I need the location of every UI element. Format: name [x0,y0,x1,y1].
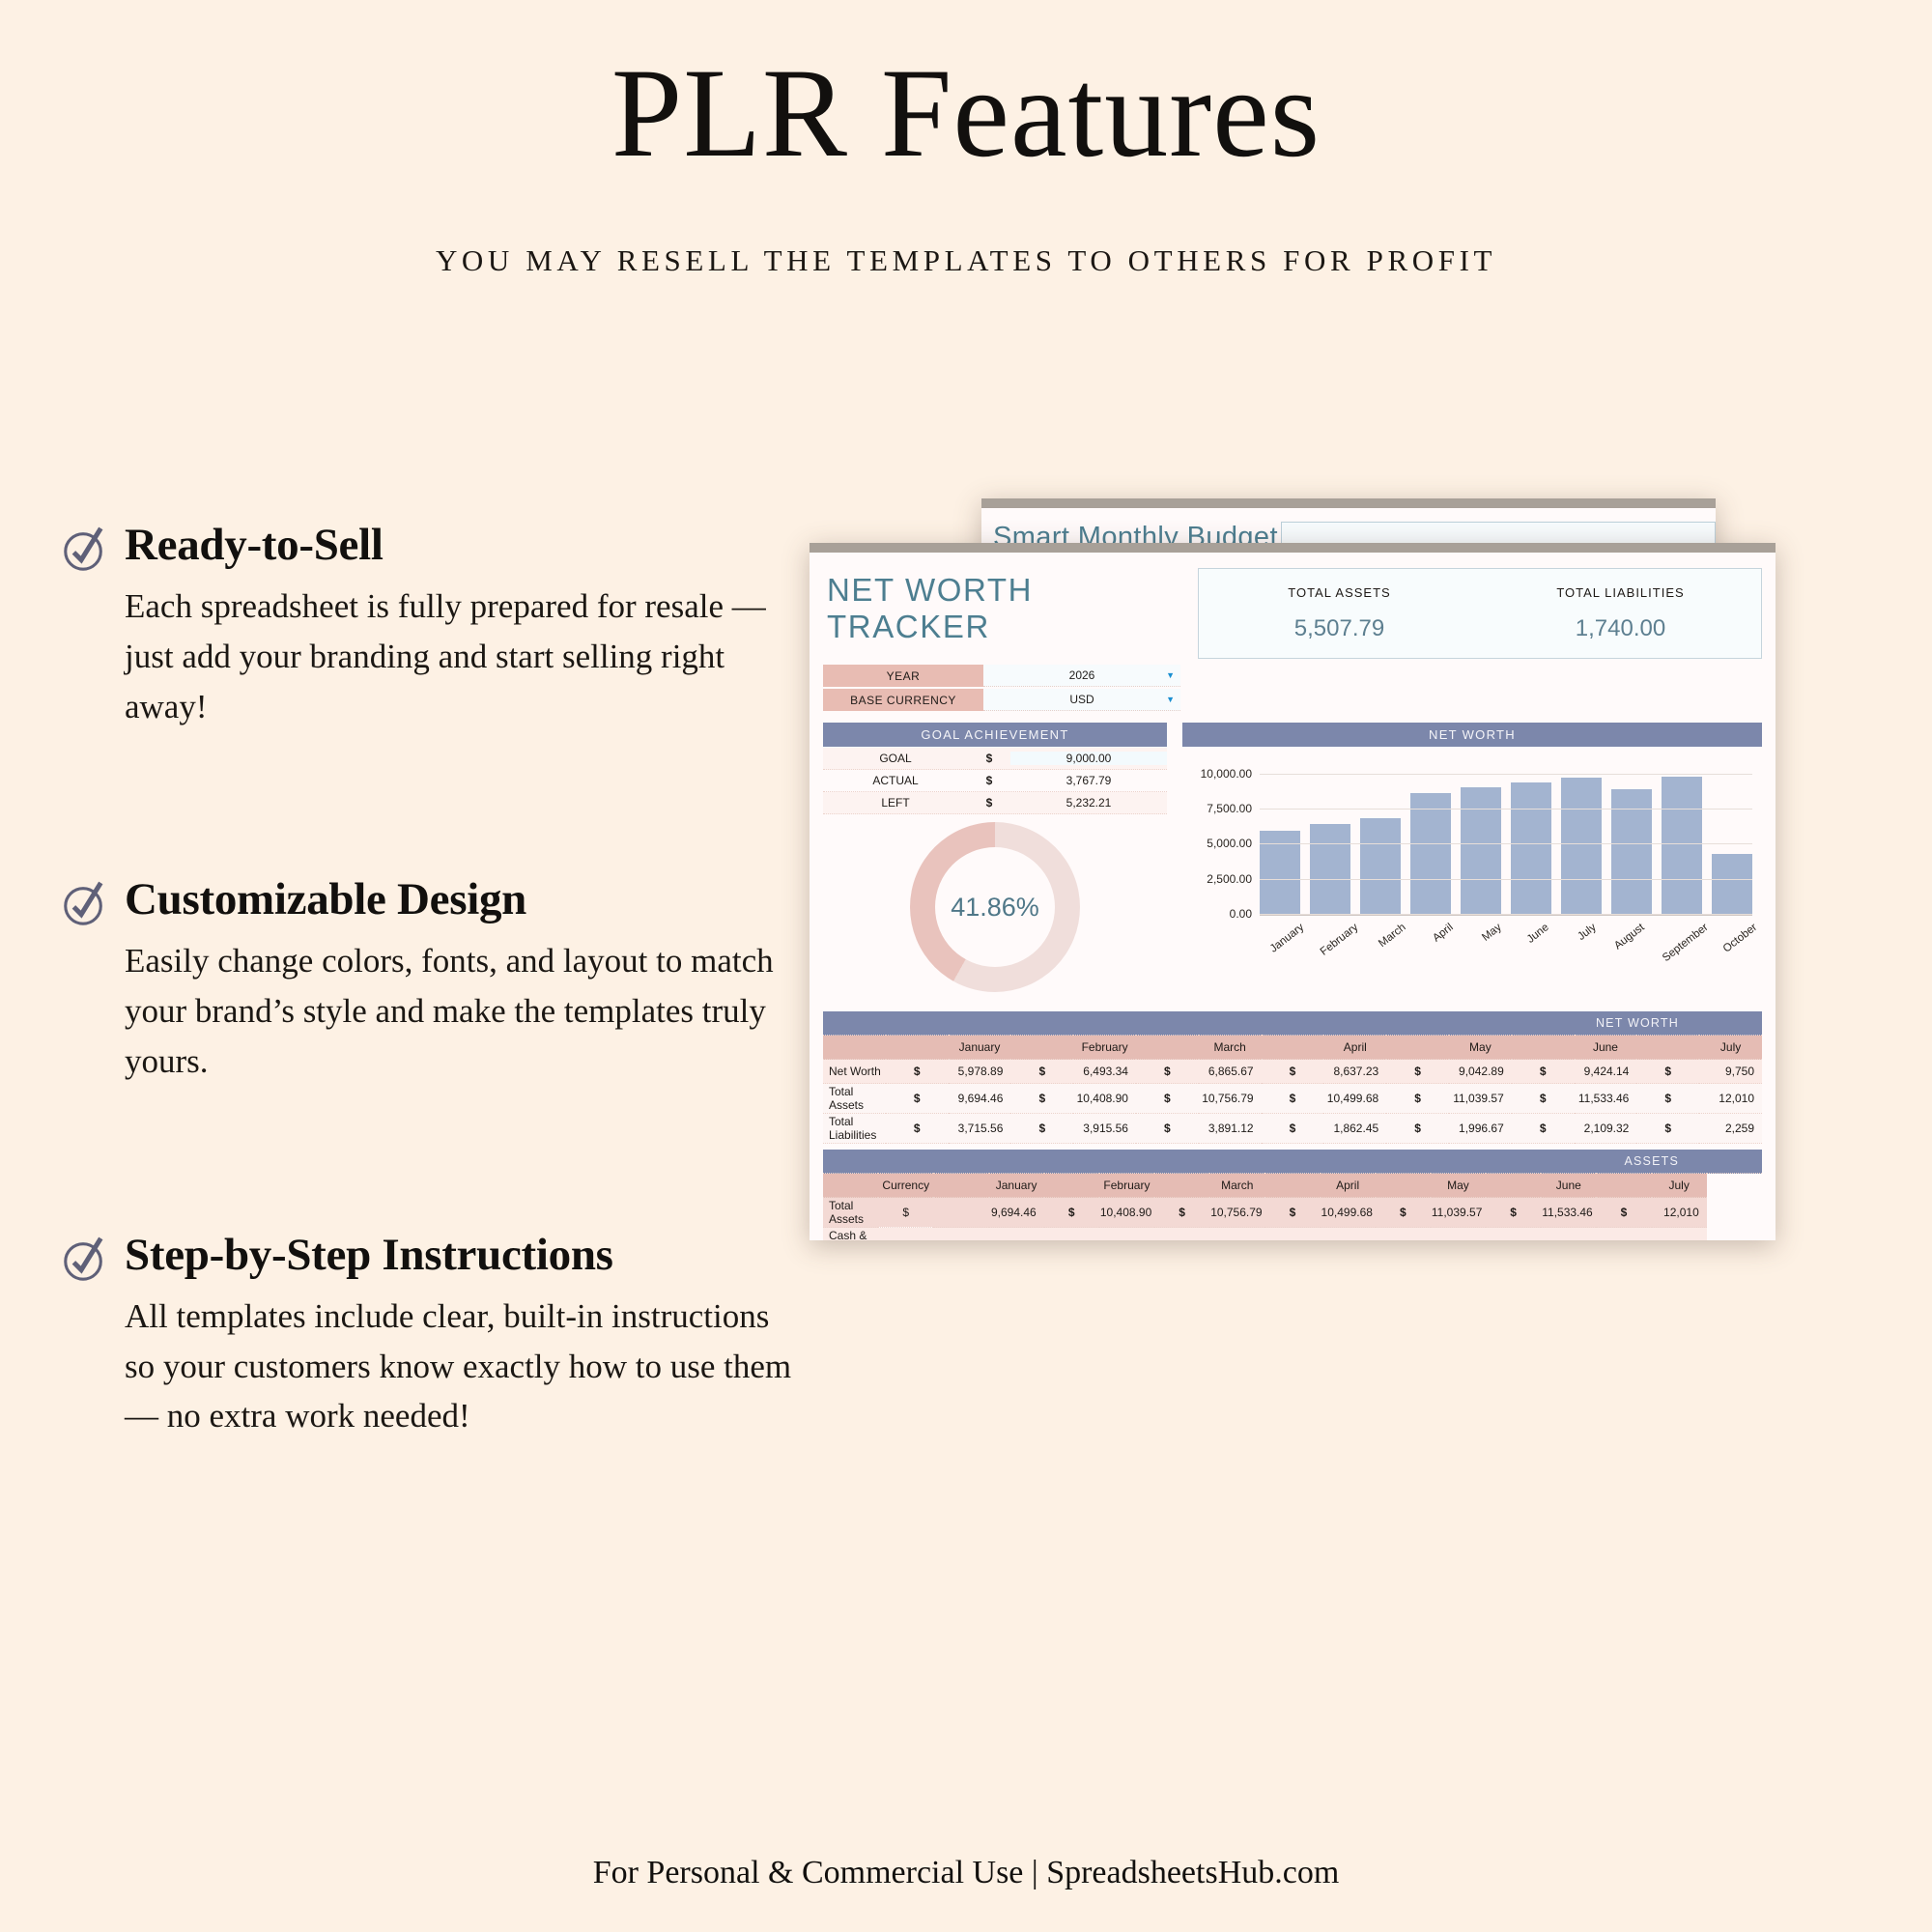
table-cell: 1,862.45 [1323,1114,1386,1144]
currency-symbol-column [1512,1036,1575,1060]
table-row: Cash & Bank Accounts$1,600.00$1,740.00$1… [823,1228,1762,1241]
currency-symbol-column [1596,1174,1651,1198]
currency-symbol-column [1154,1174,1209,1198]
table-cell: 1,910.00 [1431,1228,1486,1241]
currency-symbol: $ [1154,1228,1209,1241]
table-cell: 1,996.67 [1449,1114,1512,1144]
total-assets-label: TOTAL ASSETS [1288,585,1390,600]
chart-y-tick-label: 7,500.00 [1207,802,1252,815]
table-cell: 9,042.89 [1449,1060,1512,1084]
table-cell: 1,990.00 [1541,1228,1596,1241]
total-liabilities-value: 1,740.00 [1576,615,1665,642]
goal-row: LEFT $ 5,232.21 [823,792,1167,814]
table-cell: 9,694.46 [949,1084,1011,1114]
column-header: June [1575,1036,1637,1060]
table-band-row: NET WORTH [823,1011,1762,1036]
currency-symbol: $ [1136,1060,1199,1084]
goal-amount: 3,767.79 [1010,774,1167,787]
chart-bars [1260,760,1752,915]
total-liabilities-label: TOTAL LIABILITIES [1556,585,1684,600]
currency-symbol-column [1010,1036,1073,1060]
check-circle-icon [60,1236,108,1284]
chevron-down-icon: ▼ [1166,695,1175,704]
column-header: June [1541,1174,1596,1198]
chart-y-tick-label: 10,000.00 [1201,767,1252,781]
chart-y-tick-label: 5,000.00 [1207,837,1252,850]
table-cell: 10,756.79 [1199,1084,1262,1114]
table-row: Total Liabilities$3,715.56$3,915.56$3,89… [823,1114,1762,1144]
chart-bar [1310,824,1350,915]
currency-symbol [933,1228,988,1241]
chart-x-tick-label: March [1371,922,1433,986]
chart-gridline: 7,500.00 [1260,809,1752,810]
table-cell: 12,010 [1699,1084,1762,1114]
table-cell: 11,039.57 [1449,1084,1512,1114]
chart-x-tick-label: October [1721,922,1776,987]
currency-symbol: $ [1262,1060,1324,1084]
feature-header: Customizable Design [60,876,929,928]
table-cell: 1,800.00 [1321,1228,1376,1241]
currency-symbol: $ [1386,1084,1449,1114]
table-cell: 10,499.68 [1321,1198,1376,1228]
currency-symbol-column [1486,1174,1541,1198]
currency-symbol: $ [1262,1084,1324,1114]
feature-description: Easily change colors, fonts, and layout … [125,936,801,1086]
currency-symbol-column [933,1174,988,1198]
table-cell: 3,715.56 [949,1114,1011,1144]
column-header [823,1036,886,1060]
table-cell: 11,039.57 [1431,1198,1486,1228]
table-row: Total Assets$9,694.46$10,408.90$10,756.7… [823,1198,1762,1228]
currency-symbol-column [1386,1036,1449,1060]
check-circle-icon [60,526,108,574]
chart-bar [1360,818,1401,915]
currency-symbol: $ [1512,1084,1575,1114]
table-cell: 8,637.23 [1323,1060,1386,1084]
column-header: March [1199,1036,1262,1060]
chart-y-tick-label: 2,500.00 [1207,872,1252,886]
currency-symbol: $ [1386,1114,1449,1144]
table-cell: 6,493.34 [1073,1060,1136,1084]
column-header: May [1449,1036,1512,1060]
footer-text: For Personal & Commercial Use | Spreadsh… [0,1855,1932,1891]
table-row: Net Worth$5,978.89$6,493.34$6,865.67$8,6… [823,1060,1762,1084]
currency-symbol-column [1262,1036,1324,1060]
column-header: February [1073,1036,1136,1060]
chart-gridline: 10,000.00 [1260,774,1752,775]
goal-label: GOAL [823,752,968,765]
chart-x-tick-label: July [1562,922,1624,986]
column-header: April [1323,1036,1386,1060]
table-cell: 12,010 [1652,1198,1707,1228]
total-liabilities-card: TOTAL LIABILITIES 1,740.00 [1480,569,1761,658]
setting-value: USD [1069,693,1094,706]
currency-symbol-column [1264,1174,1320,1198]
feature-description: Each spreadsheet is fully prepared for r… [125,582,801,731]
table-cell: 1,600.00 [989,1228,1044,1241]
feature-item-customizable-design: Customizable Design Easily change colors… [60,876,929,1086]
currency-symbol [933,1198,988,1228]
currency-symbol: $ [1596,1198,1651,1228]
chart-y-tick-label: 0.00 [1230,907,1252,921]
currency-symbol: $ [878,1198,933,1228]
currency-symbol: $ [1376,1228,1431,1241]
networth-setting-row: BASE CURRENCY USD ▼ [823,689,1180,711]
net-worth-chart-band: NET WORTH [1182,723,1762,747]
goal-currency: $ [968,774,1010,787]
goal-label: ACTUAL [823,774,968,787]
feature-header: Ready-to-Sell [60,522,929,574]
currency-symbol: $ [1010,1114,1073,1144]
networth-settings-panel: NET WORTH TRACKER YEAR 2026 ▼ BASE CURRE… [823,568,1180,713]
currency-symbol-column [1376,1174,1431,1198]
currency-symbol: $ [1136,1084,1199,1114]
net-worth-table-band: NET WORTH [823,1011,1762,1036]
table-cell: 10,499.68 [1323,1084,1386,1114]
currency-symbol: $ [1010,1084,1073,1114]
currency-symbol: $ [1264,1198,1320,1228]
column-header: February [1099,1174,1154,1198]
feature-item-step-by-step-instructions: Step-by-Step Instructions All templates … [60,1232,929,1441]
table-cell: 9,424.14 [1575,1060,1637,1084]
column-header: July [1699,1036,1762,1060]
currency-symbol-column [1136,1036,1199,1060]
currency-symbol: $ [1596,1228,1651,1241]
row-label: Cash & Bank Accounts [823,1228,878,1241]
table-cell: 1,760.00 [1209,1228,1264,1241]
table-cell: 2,109.32 [1575,1114,1637,1144]
chart-bar [1561,778,1602,915]
chart-bar [1410,793,1451,915]
currency-symbol: $ [1264,1228,1320,1241]
year-dropdown[interactable]: 2026 ▼ [983,665,1180,687]
total-assets-value: 5,507.79 [1294,615,1384,642]
page-subtitle: YOU MAY RESELL THE TEMPLATES TO OTHERS F… [0,243,1932,278]
currency-symbol: $ [1044,1228,1099,1241]
chart-bar [1662,777,1702,915]
currency-symbol: $ [1636,1114,1699,1144]
feature-title: Step-by-Step Instructions [125,1232,613,1279]
chart-bar [1461,787,1501,915]
goal-achievement-panel: GOAL ACHIEVEMENT GOAL $ 9,000.00 ACTUAL … [823,723,1167,1000]
currency-symbol: $ [1262,1114,1324,1144]
chart-gridline: 5,000.00 [1260,843,1752,844]
page-title: PLR Features [0,46,1932,181]
currency-symbol: $ [1636,1060,1699,1084]
feature-header: Step-by-Step Instructions [60,1232,929,1284]
setting-label: YEAR [823,665,983,687]
currency-symbol: $ [1154,1198,1209,1228]
table-cell: 10,408.90 [1073,1084,1136,1114]
window-title-bar [810,543,1776,553]
table-cell: 6,865.67 [1199,1060,1262,1084]
features-list: Ready-to-Sell Each spreadsheet is fully … [60,522,929,1542]
net-worth-bar-chart: 0.002,500.005,000.007,500.0010,000.00 Ja… [1182,747,1762,974]
assets-table-band: ASSETS [823,1150,1762,1174]
table-header-row: JanuaryFebruaryMarchAprilMayJuneJuly [823,1036,1762,1060]
networth-sheet-title: NET WORTH TRACKER [827,572,1180,645]
currency-symbol: $ [1486,1198,1541,1228]
goal-amount[interactable]: 9,000.00 [1010,752,1167,765]
net-worth-tracker-screenshot[interactable]: NET WORTH TRACKER YEAR 2026 ▼ BASE CURRE… [810,543,1776,1240]
column-header: July [1652,1174,1707,1198]
net-worth-table: NET WORTH JanuaryFebruaryMarchAprilMayJu… [823,1011,1762,1144]
goal-achievement-band: GOAL ACHIEVEMENT [823,723,1167,747]
table-cell: 10,756.79 [1209,1198,1264,1228]
chart-x-tick-label: September [1661,922,1736,996]
chart-bar [1511,782,1551,915]
check-circle-icon [60,880,108,928]
chart-x-tick-label: April [1419,922,1481,986]
feature-title: Ready-to-Sell [125,522,384,569]
donut-percent-label: 41.86% [910,822,1080,992]
table-cell: 10,408.90 [1099,1198,1154,1228]
setting-value: 2026 [1069,668,1095,682]
table-cell: 9,750 [1699,1060,1762,1084]
setting-label: BASE CURRENCY [823,689,983,711]
donut-ring: 41.86% [910,822,1080,992]
net-worth-chart-panel: NET WORTH 0.002,500.005,000.007,500.0010… [1182,723,1762,1000]
currency-symbol: $ [878,1228,933,1241]
goal-label: LEFT [823,796,968,810]
goal-currency: $ [968,796,1010,810]
table-cell: 11,533.46 [1575,1084,1637,1114]
column-header: Currency [878,1174,933,1198]
chevron-down-icon: ▼ [1166,670,1175,680]
goal-donut-chart: 41.86% [823,814,1167,1000]
currency-symbol: $ [1386,1060,1449,1084]
window-title-bar [981,498,1716,508]
assets-table: ASSETS CurrencyJanuaryFebruaryMarchApril… [823,1150,1762,1240]
chart-x-tick-label: June [1514,922,1576,986]
table-cell: 2,080 [1652,1228,1707,1241]
table-cell: 11,533.46 [1541,1198,1596,1228]
chart-gridline: 2,500.00 [1260,879,1752,880]
networth-summary-panel: TOTAL ASSETS 5,507.79 TOTAL LIABILITIES … [1198,568,1762,713]
feature-title: Customizable Design [125,876,526,923]
feature-item-ready-to-sell: Ready-to-Sell Each spreadsheet is fully … [60,522,929,731]
table-row: Total Assets$9,694.46$10,408.90$10,756.7… [823,1084,1762,1114]
chart-gridline: 0.00 [1260,914,1752,915]
column-header [823,1174,878,1198]
currency-symbol: $ [1010,1060,1073,1084]
currency-symbol: $ [1486,1228,1541,1241]
chart-x-tick-label: May [1466,922,1528,986]
currency-symbol: $ [1636,1084,1699,1114]
column-header: January [989,1174,1044,1198]
table-header-row: CurrencyJanuaryFebruaryMarchAprilMayJune… [823,1174,1762,1198]
goal-amount: 5,232.21 [1010,796,1167,810]
currency-symbol-column [1636,1036,1699,1060]
table-cell: 9,694.46 [989,1198,1044,1228]
currency-symbol: $ [886,1114,949,1144]
currency-symbol: $ [886,1060,949,1084]
chart-x-axis-labels: JanuaryFebruaryMarchAprilMayJuneJulyAugu… [1260,916,1752,974]
goal-row: ACTUAL $ 3,767.79 [823,770,1167,792]
currency-symbol: $ [1136,1114,1199,1144]
column-header: March [1209,1174,1264,1198]
table-cell: 3,915.56 [1073,1114,1136,1144]
currency-symbol-column [1044,1174,1099,1198]
column-header: April [1321,1174,1376,1198]
row-label: Net Worth [823,1060,886,1084]
table-band-row: ASSETS [823,1150,1762,1174]
table-cell: 3,891.12 [1199,1114,1262,1144]
base-currency-dropdown[interactable]: USD ▼ [983,689,1180,711]
table-cell: 2,259 [1699,1114,1762,1144]
row-label: Total Liabilities [823,1114,886,1144]
total-assets-card: TOTAL ASSETS 5,507.79 [1199,569,1480,658]
chart-plot-area: 0.002,500.005,000.007,500.0010,000.00 [1260,760,1752,916]
column-header: January [949,1036,1011,1060]
table-cell: 5,978.89 [949,1060,1011,1084]
currency-symbol: $ [1376,1198,1431,1228]
currency-symbol-column [886,1036,949,1060]
networth-setting-row: YEAR 2026 ▼ [823,665,1180,687]
chart-x-tick-label: February [1319,922,1386,990]
currency-symbol: $ [1512,1060,1575,1084]
column-header: May [1431,1174,1486,1198]
goal-currency: $ [968,752,1010,765]
chart-bar [1712,854,1752,915]
currency-symbol: $ [886,1084,949,1114]
row-label: Total Assets [823,1198,878,1228]
row-label: Total Assets [823,1084,886,1114]
goal-row: GOAL $ 9,000.00 [823,748,1167,770]
currency-symbol: $ [1044,1198,1099,1228]
feature-description: All templates include clear, built-in in… [125,1292,801,1441]
table-cell: 1,740.00 [1099,1228,1154,1241]
currency-symbol: $ [1512,1114,1575,1144]
